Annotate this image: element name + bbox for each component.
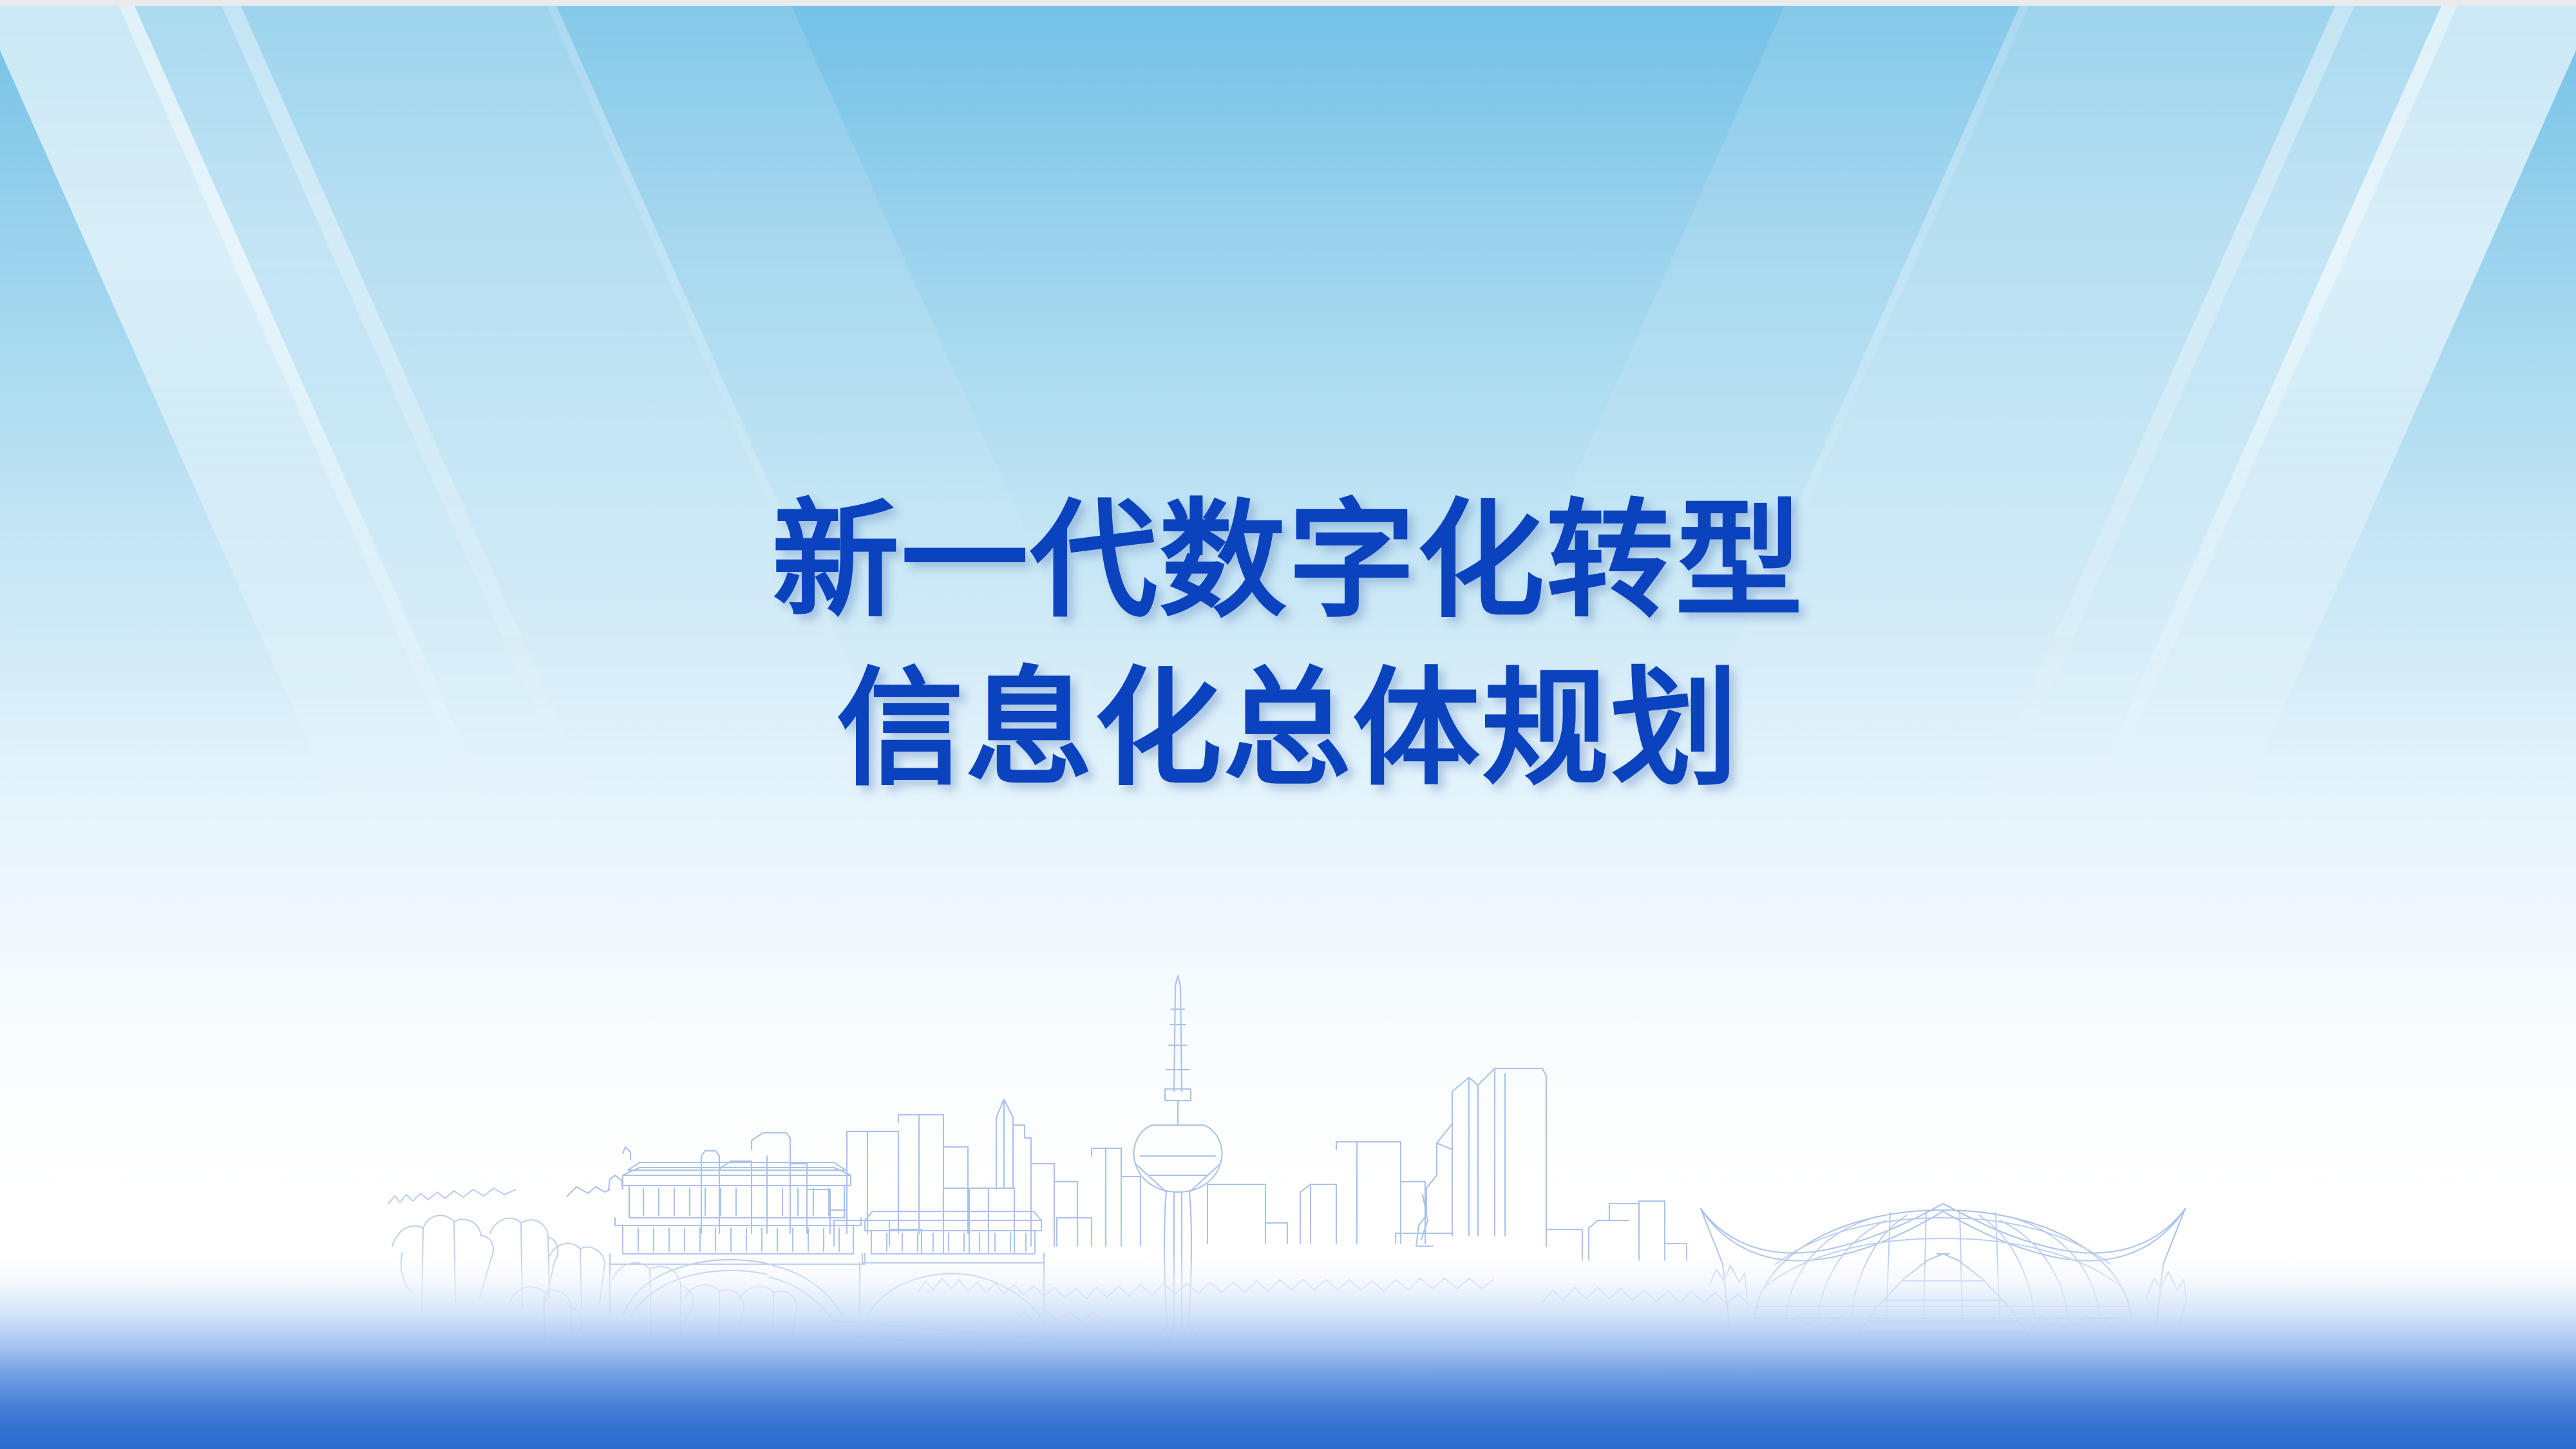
title-slide: 新一代数字化转型 信息化总体规划	[0, 0, 2576, 1449]
window-chrome-strip	[0, 0, 2576, 6]
sky-gradient-background	[0, 6, 2576, 1449]
